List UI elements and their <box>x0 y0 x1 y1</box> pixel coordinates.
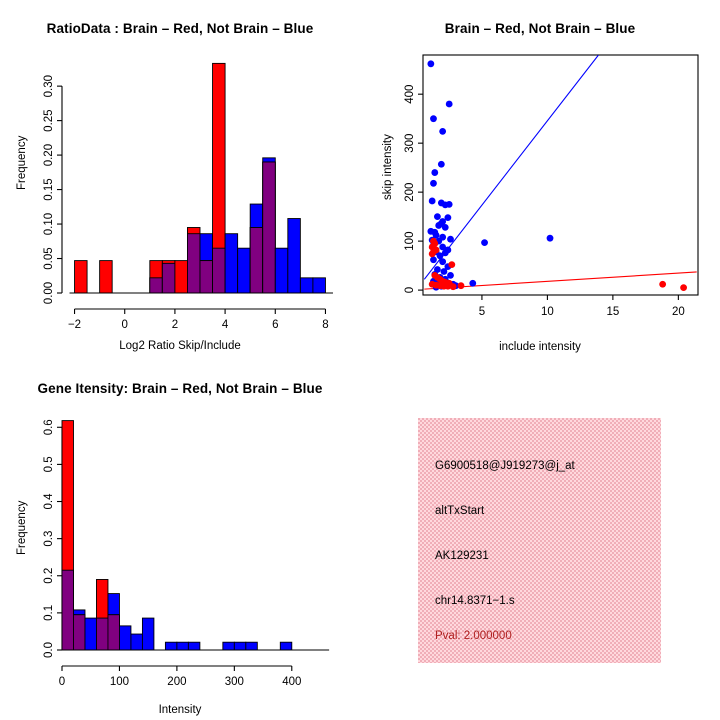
y-tick-label: 0.15 <box>43 178 55 200</box>
gene-intensity-histogram-panel: Gene Itensity: Brain – Red, Not Brain – … <box>0 360 360 720</box>
x-tick-label: 200 <box>167 676 186 688</box>
y-tick-label: 0.20 <box>43 144 55 166</box>
y-tick-label: 0.2 <box>43 568 55 584</box>
y-tick-label: 400 <box>404 85 416 104</box>
x-tick-label: −2 <box>68 319 81 331</box>
trend-line-not-brain-fit <box>424 55 598 279</box>
ratio-histogram-panel: RatioData : Brain – Red, Not Brain – Blu… <box>0 0 360 360</box>
scatter-point-not-brain <box>441 268 448 275</box>
x-tick-label: 100 <box>110 676 129 688</box>
histogram-bar-not-brain <box>234 642 245 650</box>
histogram-bar-not-brain <box>165 642 176 650</box>
histogram-bar-overlap <box>108 615 119 650</box>
scatter-point-not-brain <box>439 128 446 135</box>
y-tick-label: 0.5 <box>43 456 55 472</box>
y-tick-label: 0.30 <box>43 75 55 97</box>
x-tick-label: 400 <box>282 676 301 688</box>
scatter-point-not-brain <box>430 115 437 122</box>
histogram-bar-not-brain <box>225 234 238 293</box>
histogram-bar-not-brain <box>280 642 291 650</box>
histogram-bar-not-brain <box>300 278 313 293</box>
y-tick-label: 0.6 <box>43 419 55 435</box>
scatter-point-not-brain <box>547 235 554 242</box>
histogram-bar-overlap <box>187 234 200 293</box>
histogram-bar-overlap <box>150 278 163 293</box>
x-tick-label: 15 <box>606 306 619 318</box>
histogram-bar-overlap <box>213 248 226 293</box>
scatter-point-not-brain <box>469 280 476 287</box>
scatter-point-not-brain <box>429 198 436 205</box>
gene-info-panel: G6900518@J919273@j_at altTxStart AK12923… <box>418 418 661 663</box>
trend-line-brain-fit <box>424 272 696 289</box>
info-pval: Pval: 2.000000 <box>435 630 512 642</box>
y-tick-label: 0.05 <box>43 247 55 269</box>
y-tick-label: 0.25 <box>43 109 55 131</box>
scatter-point-brain <box>448 261 455 268</box>
scatter-point-not-brain <box>437 252 444 259</box>
histogram-bar-overlap <box>200 261 213 293</box>
scatter-point-not-brain <box>435 222 442 229</box>
histogram-bar-brain <box>175 261 188 293</box>
scatter-point-not-brain <box>438 161 445 168</box>
scatter-point-not-brain <box>439 258 446 265</box>
histogram-bar-not-brain <box>131 634 142 650</box>
scatter-point-not-brain <box>447 236 454 243</box>
scatter-point-brain <box>458 282 465 289</box>
x-tick-label: 10 <box>541 306 554 318</box>
histogram-bar-brain <box>100 261 113 293</box>
x-tick-label: 0 <box>122 319 128 331</box>
info-panel-background <box>418 418 661 663</box>
plot-box <box>423 55 698 295</box>
x-tick-label: 5 <box>479 306 485 318</box>
histogram-bar-overlap <box>62 570 73 650</box>
y-tick-label: 100 <box>404 232 416 251</box>
x-tick-label: 8 <box>322 319 328 331</box>
histogram-bar-not-brain <box>119 626 130 650</box>
histogram-bar-overlap <box>162 263 175 293</box>
histogram-bar-not-brain <box>238 248 251 293</box>
x-tick-label: 6 <box>272 319 278 331</box>
y-tick-label: 0.3 <box>43 531 55 547</box>
scatter-point-not-brain <box>434 213 441 220</box>
histogram-bar-not-brain <box>313 278 326 293</box>
intensity-scatter-panel: Brain – Red, Not Brain – Blue skip inten… <box>360 0 720 360</box>
x-tick-label: 20 <box>672 306 685 318</box>
scatter-point-not-brain <box>431 169 438 176</box>
x-tick-label: 300 <box>225 676 244 688</box>
histogram-bar-overlap <box>73 615 84 650</box>
x-tick-label: 4 <box>222 319 229 331</box>
scatter-point-not-brain <box>442 224 449 231</box>
scatter-content <box>424 55 696 291</box>
y-tick-label: 0.0 <box>43 642 55 658</box>
x-tick-label: 0 <box>59 676 65 688</box>
scatter-point-not-brain <box>427 60 434 67</box>
histogram-bar-not-brain <box>85 618 96 650</box>
histogram-bar-not-brain <box>188 642 199 650</box>
scatter-point-brain <box>659 281 666 288</box>
info-event-type: altTxStart <box>435 505 484 517</box>
scatter-point-not-brain <box>446 201 453 208</box>
y-tick-label: 0.4 <box>43 493 55 510</box>
scatter-point-not-brain <box>430 256 437 263</box>
histogram-bar-not-brain <box>275 248 288 293</box>
scatter-point-brain <box>450 283 457 290</box>
histogram-bar-overlap <box>96 618 107 650</box>
y-tick-label: 0.1 <box>43 605 55 621</box>
intensity-scatter-plot-area: 01002003004005101520 <box>360 0 720 360</box>
info-accession: AK129231 <box>435 550 489 562</box>
histogram-bar-not-brain <box>288 219 301 293</box>
scatter-point-brain <box>429 250 436 257</box>
histogram-bar-overlap <box>250 227 263 293</box>
y-tick-label: 0 <box>404 287 416 293</box>
histogram-bar-not-brain <box>142 618 153 650</box>
y-tick-label: 0.10 <box>43 213 55 235</box>
info-probe-id: G6900518@J919273@j_at <box>435 460 575 472</box>
histogram-bar-overlap <box>263 162 276 293</box>
x-tick-label: 2 <box>172 319 178 331</box>
scatter-point-not-brain <box>481 239 488 246</box>
y-tick-label: 200 <box>404 183 416 202</box>
histogram-bar-brain <box>75 261 88 293</box>
info-locus: chr14.8371−1.s <box>435 595 515 607</box>
y-tick-label: 0.00 <box>43 282 55 304</box>
scatter-point-not-brain <box>446 101 453 108</box>
scatter-point-brain <box>680 284 687 291</box>
ratio-histogram-plot-area: 0.000.050.100.150.200.250.30−202468 <box>0 0 360 360</box>
histogram-bar-not-brain <box>223 642 234 650</box>
histogram-bar-not-brain <box>246 642 257 650</box>
histogram-bar-not-brain <box>177 642 188 650</box>
gene-intensity-histogram-plot-area: 0.00.10.20.30.40.50.60100200300400 <box>0 360 360 720</box>
scatter-point-not-brain <box>430 180 437 187</box>
y-tick-label: 300 <box>404 134 416 153</box>
